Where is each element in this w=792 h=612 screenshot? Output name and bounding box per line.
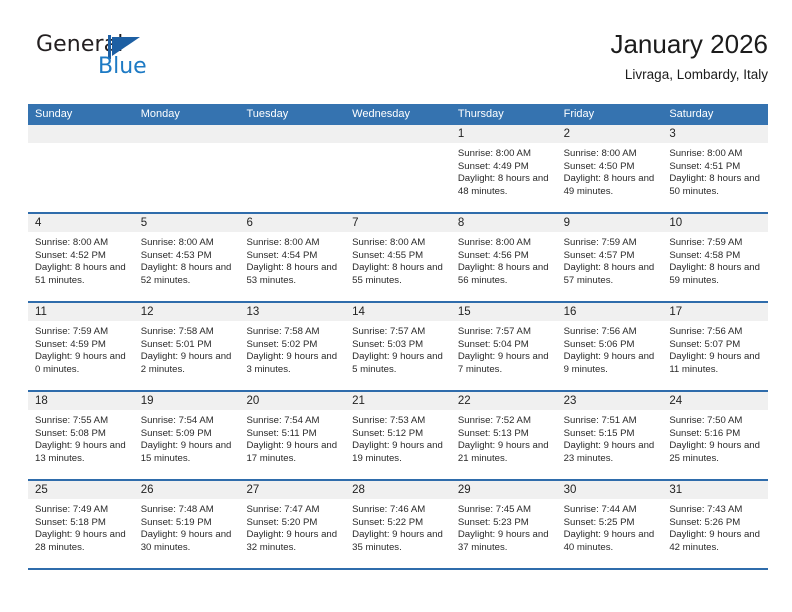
day-number: 22: [451, 392, 557, 410]
day-number-band: 22: [451, 392, 557, 410]
sunset-text: Sunset: 5:11 PM: [246, 428, 339, 441]
day-cell[interactable]: 21Sunrise: 7:53 AMSunset: 5:12 PMDayligh…: [345, 392, 451, 479]
day-number-band: 31: [662, 481, 768, 499]
calendar-week-row: 4Sunrise: 8:00 AMSunset: 4:52 PMDaylight…: [28, 214, 768, 303]
sunset-text: Sunset: 5:09 PM: [141, 428, 234, 441]
day-details: Sunrise: 8:00 AMSunset: 4:52 PMDaylight:…: [28, 232, 134, 287]
sunset-text: Sunset: 5:07 PM: [669, 339, 762, 352]
day-cell[interactable]: 15Sunrise: 7:57 AMSunset: 5:04 PMDayligh…: [451, 303, 557, 390]
sunrise-text: Sunrise: 7:48 AM: [141, 504, 234, 517]
day-number-band: 30: [557, 481, 663, 499]
calendar-page: General Blue January 2026 Livraga, Lomba…: [0, 0, 792, 612]
day-number: 9: [557, 214, 663, 232]
day-number: 28: [345, 481, 451, 499]
sunset-text: Sunset: 5:03 PM: [352, 339, 445, 352]
day-number-band: 23: [557, 392, 663, 410]
weekday-header-tuesday: Tuesday: [239, 104, 345, 125]
day-number-band: 20: [239, 392, 345, 410]
sunset-text: Sunset: 4:56 PM: [458, 250, 551, 263]
sunrise-text: Sunrise: 7:54 AM: [246, 415, 339, 428]
day-number-band: 1: [451, 125, 557, 143]
day-number-band: 16: [557, 303, 663, 321]
calendar-grid: SundayMondayTuesdayWednesdayThursdayFrid…: [28, 104, 768, 570]
daylight-text: Daylight: 8 hours and 49 minutes.: [564, 173, 657, 198]
sunset-text: Sunset: 5:23 PM: [458, 517, 551, 530]
weekday-header-friday: Friday: [557, 104, 663, 125]
day-cell[interactable]: 16Sunrise: 7:56 AMSunset: 5:06 PMDayligh…: [557, 303, 663, 390]
day-cell[interactable]: 6Sunrise: 8:00 AMSunset: 4:54 PMDaylight…: [239, 214, 345, 301]
day-number-band: 19: [134, 392, 240, 410]
day-number-band: 8: [451, 214, 557, 232]
day-details: Sunrise: 7:58 AMSunset: 5:02 PMDaylight:…: [239, 321, 345, 376]
day-details: Sunrise: 7:56 AMSunset: 5:07 PMDaylight:…: [662, 321, 768, 376]
day-cell[interactable]: 28Sunrise: 7:46 AMSunset: 5:22 PMDayligh…: [345, 481, 451, 568]
day-cell[interactable]: 17Sunrise: 7:56 AMSunset: 5:07 PMDayligh…: [662, 303, 768, 390]
day-number: 6: [239, 214, 345, 232]
day-cell[interactable]: 8Sunrise: 8:00 AMSunset: 4:56 PMDaylight…: [451, 214, 557, 301]
day-number: 17: [662, 303, 768, 321]
day-cell[interactable]: 5Sunrise: 8:00 AMSunset: 4:53 PMDaylight…: [134, 214, 240, 301]
daylight-text: Daylight: 9 hours and 15 minutes.: [141, 440, 234, 465]
day-cell[interactable]: 30Sunrise: 7:44 AMSunset: 5:25 PMDayligh…: [557, 481, 663, 568]
daylight-text: Daylight: 9 hours and 30 minutes.: [141, 529, 234, 554]
day-number-band: 3: [662, 125, 768, 143]
sunset-text: Sunset: 5:08 PM: [35, 428, 128, 441]
day-number-band: 24: [662, 392, 768, 410]
day-details: Sunrise: 8:00 AMSunset: 4:53 PMDaylight:…: [134, 232, 240, 287]
day-number-band: 17: [662, 303, 768, 321]
sunrise-text: Sunrise: 7:56 AM: [564, 326, 657, 339]
day-number: 4: [28, 214, 134, 232]
day-number: 18: [28, 392, 134, 410]
sunset-text: Sunset: 5:22 PM: [352, 517, 445, 530]
day-number: 21: [345, 392, 451, 410]
day-details: Sunrise: 7:59 AMSunset: 4:57 PMDaylight:…: [557, 232, 663, 287]
day-details: Sunrise: 7:57 AMSunset: 5:03 PMDaylight:…: [345, 321, 451, 376]
daylight-text: Daylight: 8 hours and 57 minutes.: [564, 262, 657, 287]
day-number: 30: [557, 481, 663, 499]
day-number: 25: [28, 481, 134, 499]
day-details: Sunrise: 7:53 AMSunset: 5:12 PMDaylight:…: [345, 410, 451, 465]
daylight-text: Daylight: 9 hours and 3 minutes.: [246, 351, 339, 376]
day-number-band: 12: [134, 303, 240, 321]
calendar-week-row: 25Sunrise: 7:49 AMSunset: 5:18 PMDayligh…: [28, 481, 768, 570]
day-cell[interactable]: 14Sunrise: 7:57 AMSunset: 5:03 PMDayligh…: [345, 303, 451, 390]
sunset-text: Sunset: 5:16 PM: [669, 428, 762, 441]
sunset-text: Sunset: 4:49 PM: [458, 161, 551, 174]
sunrise-text: Sunrise: 7:58 AM: [246, 326, 339, 339]
daylight-text: Daylight: 8 hours and 55 minutes.: [352, 262, 445, 287]
daylight-text: Daylight: 9 hours and 19 minutes.: [352, 440, 445, 465]
day-number: 23: [557, 392, 663, 410]
sunrise-text: Sunrise: 8:00 AM: [35, 237, 128, 250]
daylight-text: Daylight: 9 hours and 2 minutes.: [141, 351, 234, 376]
sunrise-text: Sunrise: 7:58 AM: [141, 326, 234, 339]
day-cell[interactable]: 7Sunrise: 8:00 AMSunset: 4:55 PMDaylight…: [345, 214, 451, 301]
day-number-band: 4: [28, 214, 134, 232]
daylight-text: Daylight: 8 hours and 51 minutes.: [35, 262, 128, 287]
calendar-week-row: 11Sunrise: 7:59 AMSunset: 4:59 PMDayligh…: [28, 303, 768, 392]
sunset-text: Sunset: 4:51 PM: [669, 161, 762, 174]
day-cell[interactable]: 12Sunrise: 7:58 AMSunset: 5:01 PMDayligh…: [134, 303, 240, 390]
day-cell-empty: [134, 125, 240, 212]
day-number-band: [28, 125, 134, 143]
sunrise-text: Sunrise: 7:52 AM: [458, 415, 551, 428]
day-number-band: 18: [28, 392, 134, 410]
day-details: Sunrise: 7:59 AMSunset: 4:59 PMDaylight:…: [28, 321, 134, 376]
day-cell[interactable]: 24Sunrise: 7:50 AMSunset: 5:16 PMDayligh…: [662, 392, 768, 479]
day-number: 16: [557, 303, 663, 321]
day-number: 3: [662, 125, 768, 143]
day-number: 19: [134, 392, 240, 410]
sunrise-text: Sunrise: 7:53 AM: [352, 415, 445, 428]
daylight-text: Daylight: 9 hours and 32 minutes.: [246, 529, 339, 554]
day-details: Sunrise: 7:51 AMSunset: 5:15 PMDaylight:…: [557, 410, 663, 465]
day-cell[interactable]: 23Sunrise: 7:51 AMSunset: 5:15 PMDayligh…: [557, 392, 663, 479]
daylight-text: Daylight: 9 hours and 40 minutes.: [564, 529, 657, 554]
day-number-band: 6: [239, 214, 345, 232]
daylight-text: Daylight: 9 hours and 5 minutes.: [352, 351, 445, 376]
daylight-text: Daylight: 8 hours and 53 minutes.: [246, 262, 339, 287]
sunset-text: Sunset: 4:52 PM: [35, 250, 128, 263]
sunset-text: Sunset: 4:53 PM: [141, 250, 234, 263]
sunrise-text: Sunrise: 8:00 AM: [669, 148, 762, 161]
day-number-band: 9: [557, 214, 663, 232]
page-subtitle: Livraga, Lombardy, Italy: [610, 66, 768, 84]
sunset-text: Sunset: 4:50 PM: [564, 161, 657, 174]
sunset-text: Sunset: 5:06 PM: [564, 339, 657, 352]
sunrise-text: Sunrise: 7:44 AM: [564, 504, 657, 517]
sunrise-text: Sunrise: 7:43 AM: [669, 504, 762, 517]
day-number: 14: [345, 303, 451, 321]
sunset-text: Sunset: 5:12 PM: [352, 428, 445, 441]
sunrise-text: Sunrise: 7:45 AM: [458, 504, 551, 517]
day-details: Sunrise: 7:58 AMSunset: 5:01 PMDaylight:…: [134, 321, 240, 376]
day-details: Sunrise: 8:00 AMSunset: 4:51 PMDaylight:…: [662, 143, 768, 198]
day-number: 26: [134, 481, 240, 499]
weekday-header-sunday: Sunday: [28, 104, 134, 125]
daylight-text: Daylight: 9 hours and 25 minutes.: [669, 440, 762, 465]
daylight-text: Daylight: 9 hours and 11 minutes.: [669, 351, 762, 376]
daylight-text: Daylight: 8 hours and 59 minutes.: [669, 262, 762, 287]
sunrise-text: Sunrise: 7:55 AM: [35, 415, 128, 428]
sunrise-text: Sunrise: 8:00 AM: [564, 148, 657, 161]
day-number-band: 15: [451, 303, 557, 321]
day-number-band: 26: [134, 481, 240, 499]
sunrise-text: Sunrise: 7:57 AM: [458, 326, 551, 339]
day-cell[interactable]: 22Sunrise: 7:52 AMSunset: 5:13 PMDayligh…: [451, 392, 557, 479]
sunset-text: Sunset: 5:01 PM: [141, 339, 234, 352]
day-number-band: 29: [451, 481, 557, 499]
sunrise-text: Sunrise: 7:54 AM: [141, 415, 234, 428]
sunrise-text: Sunrise: 7:47 AM: [246, 504, 339, 517]
sunset-text: Sunset: 4:58 PM: [669, 250, 762, 263]
day-cell[interactable]: 2Sunrise: 8:00 AMSunset: 4:50 PMDaylight…: [557, 125, 663, 212]
day-details: Sunrise: 7:52 AMSunset: 5:13 PMDaylight:…: [451, 410, 557, 465]
sunrise-text: Sunrise: 7:59 AM: [564, 237, 657, 250]
day-details: Sunrise: 7:54 AMSunset: 5:11 PMDaylight:…: [239, 410, 345, 465]
day-number-band: 7: [345, 214, 451, 232]
sunrise-text: Sunrise: 8:00 AM: [246, 237, 339, 250]
day-number: 7: [345, 214, 451, 232]
day-details: Sunrise: 8:00 AMSunset: 4:54 PMDaylight:…: [239, 232, 345, 287]
daylight-text: Daylight: 9 hours and 13 minutes.: [35, 440, 128, 465]
day-number: 15: [451, 303, 557, 321]
day-number: 20: [239, 392, 345, 410]
day-number: 24: [662, 392, 768, 410]
day-cell[interactable]: 27Sunrise: 7:47 AMSunset: 5:20 PMDayligh…: [239, 481, 345, 568]
day-cell[interactable]: 19Sunrise: 7:54 AMSunset: 5:09 PMDayligh…: [134, 392, 240, 479]
day-cell[interactable]: 11Sunrise: 7:59 AMSunset: 4:59 PMDayligh…: [28, 303, 134, 390]
day-number: 8: [451, 214, 557, 232]
daylight-text: Daylight: 9 hours and 28 minutes.: [35, 529, 128, 554]
sunrise-text: Sunrise: 7:46 AM: [352, 504, 445, 517]
day-cell[interactable]: 13Sunrise: 7:58 AMSunset: 5:02 PMDayligh…: [239, 303, 345, 390]
day-number-band: [134, 125, 240, 143]
day-number-band: 11: [28, 303, 134, 321]
daylight-text: Daylight: 9 hours and 42 minutes.: [669, 529, 762, 554]
day-number: 11: [28, 303, 134, 321]
daylight-text: Daylight: 9 hours and 23 minutes.: [564, 440, 657, 465]
sunset-text: Sunset: 4:54 PM: [246, 250, 339, 263]
day-number-band: 28: [345, 481, 451, 499]
day-cell[interactable]: 3Sunrise: 8:00 AMSunset: 4:51 PMDaylight…: [662, 125, 768, 212]
day-cell[interactable]: 31Sunrise: 7:43 AMSunset: 5:26 PMDayligh…: [662, 481, 768, 568]
day-number: 2: [557, 125, 663, 143]
day-cell[interactable]: 9Sunrise: 7:59 AMSunset: 4:57 PMDaylight…: [557, 214, 663, 301]
sunset-text: Sunset: 5:15 PM: [564, 428, 657, 441]
daylight-text: Daylight: 8 hours and 48 minutes.: [458, 173, 551, 198]
day-cell[interactable]: 18Sunrise: 7:55 AMSunset: 5:08 PMDayligh…: [28, 392, 134, 479]
day-details: Sunrise: 7:43 AMSunset: 5:26 PMDaylight:…: [662, 499, 768, 554]
sunrise-text: Sunrise: 7:57 AM: [352, 326, 445, 339]
sunset-text: Sunset: 4:57 PM: [564, 250, 657, 263]
weekday-header-row: SundayMondayTuesdayWednesdayThursdayFrid…: [28, 104, 768, 125]
daylight-text: Daylight: 9 hours and 17 minutes.: [246, 440, 339, 465]
day-number: 5: [134, 214, 240, 232]
day-details: Sunrise: 8:00 AMSunset: 4:50 PMDaylight:…: [557, 143, 663, 198]
sunset-text: Sunset: 5:20 PM: [246, 517, 339, 530]
weekday-header-thursday: Thursday: [451, 104, 557, 125]
daylight-text: Daylight: 8 hours and 56 minutes.: [458, 262, 551, 287]
sunset-text: Sunset: 4:55 PM: [352, 250, 445, 263]
sunrise-text: Sunrise: 7:51 AM: [564, 415, 657, 428]
weekday-header-wednesday: Wednesday: [345, 104, 451, 125]
title-block: January 2026 Livraga, Lombardy, Italy: [610, 28, 768, 84]
day-cell[interactable]: 1Sunrise: 8:00 AMSunset: 4:49 PMDaylight…: [451, 125, 557, 212]
daylight-text: Daylight: 9 hours and 7 minutes.: [458, 351, 551, 376]
brand-logo[interactable]: General Blue: [36, 32, 236, 92]
day-number-band: 5: [134, 214, 240, 232]
daylight-text: Daylight: 9 hours and 37 minutes.: [458, 529, 551, 554]
sunset-text: Sunset: 5:25 PM: [564, 517, 657, 530]
day-cell-empty: [239, 125, 345, 212]
day-number-band: 10: [662, 214, 768, 232]
day-cell[interactable]: 10Sunrise: 7:59 AMSunset: 4:58 PMDayligh…: [662, 214, 768, 301]
sunrise-text: Sunrise: 8:00 AM: [141, 237, 234, 250]
day-number: 27: [239, 481, 345, 499]
sunset-text: Sunset: 5:02 PM: [246, 339, 339, 352]
sunset-text: Sunset: 5:18 PM: [35, 517, 128, 530]
day-details: Sunrise: 7:59 AMSunset: 4:58 PMDaylight:…: [662, 232, 768, 287]
day-details: Sunrise: 7:48 AMSunset: 5:19 PMDaylight:…: [134, 499, 240, 554]
daylight-text: Daylight: 9 hours and 0 minutes.: [35, 351, 128, 376]
sunset-text: Sunset: 5:13 PM: [458, 428, 551, 441]
daylight-text: Daylight: 9 hours and 9 minutes.: [564, 351, 657, 376]
daylight-text: Daylight: 9 hours and 35 minutes.: [352, 529, 445, 554]
day-details: Sunrise: 7:54 AMSunset: 5:09 PMDaylight:…: [134, 410, 240, 465]
day-details: Sunrise: 7:47 AMSunset: 5:20 PMDaylight:…: [239, 499, 345, 554]
sunset-text: Sunset: 5:04 PM: [458, 339, 551, 352]
sunrise-text: Sunrise: 7:50 AM: [669, 415, 762, 428]
day-number-band: [345, 125, 451, 143]
day-number-band: 27: [239, 481, 345, 499]
sunset-text: Sunset: 5:26 PM: [669, 517, 762, 530]
day-number-band: 21: [345, 392, 451, 410]
day-number: 13: [239, 303, 345, 321]
day-number: 12: [134, 303, 240, 321]
day-number: 31: [662, 481, 768, 499]
sunrise-text: Sunrise: 7:59 AM: [669, 237, 762, 250]
page-title: January 2026: [610, 28, 768, 60]
day-details: Sunrise: 8:00 AMSunset: 4:55 PMDaylight:…: [345, 232, 451, 287]
day-cell[interactable]: 29Sunrise: 7:45 AMSunset: 5:23 PMDayligh…: [451, 481, 557, 568]
sunset-text: Sunset: 4:59 PM: [35, 339, 128, 352]
day-cell[interactable]: 4Sunrise: 8:00 AMSunset: 4:52 PMDaylight…: [28, 214, 134, 301]
day-number: 10: [662, 214, 768, 232]
day-details: Sunrise: 7:46 AMSunset: 5:22 PMDaylight:…: [345, 499, 451, 554]
sunrise-text: Sunrise: 8:00 AM: [352, 237, 445, 250]
day-number-band: 13: [239, 303, 345, 321]
day-details: Sunrise: 7:56 AMSunset: 5:06 PMDaylight:…: [557, 321, 663, 376]
day-details: Sunrise: 8:00 AMSunset: 4:56 PMDaylight:…: [451, 232, 557, 287]
calendar-week-row: 18Sunrise: 7:55 AMSunset: 5:08 PMDayligh…: [28, 392, 768, 481]
sunrise-text: Sunrise: 8:00 AM: [458, 237, 551, 250]
brand-name-bottom: Blue: [98, 54, 147, 79]
day-number-band: 25: [28, 481, 134, 499]
daylight-text: Daylight: 8 hours and 52 minutes.: [141, 262, 234, 287]
daylight-text: Daylight: 8 hours and 50 minutes.: [669, 173, 762, 198]
day-cell[interactable]: 20Sunrise: 7:54 AMSunset: 5:11 PMDayligh…: [239, 392, 345, 479]
sunrise-text: Sunrise: 8:00 AM: [458, 148, 551, 161]
day-number: 1: [451, 125, 557, 143]
page-header: General Blue January 2026 Livraga, Lomba…: [28, 28, 768, 100]
day-cell-empty: [345, 125, 451, 212]
day-details: Sunrise: 7:44 AMSunset: 5:25 PMDaylight:…: [557, 499, 663, 554]
day-details: Sunrise: 8:00 AMSunset: 4:49 PMDaylight:…: [451, 143, 557, 198]
sunrise-text: Sunrise: 7:59 AM: [35, 326, 128, 339]
day-number: 29: [451, 481, 557, 499]
weekday-header-saturday: Saturday: [662, 104, 768, 125]
calendar-weeks: 1Sunrise: 8:00 AMSunset: 4:49 PMDaylight…: [28, 125, 768, 570]
sunset-text: Sunset: 5:19 PM: [141, 517, 234, 530]
day-cell-empty: [28, 125, 134, 212]
weekday-header-monday: Monday: [134, 104, 240, 125]
day-details: Sunrise: 7:57 AMSunset: 5:04 PMDaylight:…: [451, 321, 557, 376]
day-details: Sunrise: 7:55 AMSunset: 5:08 PMDaylight:…: [28, 410, 134, 465]
calendar-week-row: 1Sunrise: 8:00 AMSunset: 4:49 PMDaylight…: [28, 125, 768, 214]
day-details: Sunrise: 7:50 AMSunset: 5:16 PMDaylight:…: [662, 410, 768, 465]
day-number-band: [239, 125, 345, 143]
day-number-band: 14: [345, 303, 451, 321]
daylight-text: Daylight: 9 hours and 21 minutes.: [458, 440, 551, 465]
day-number-band: 2: [557, 125, 663, 143]
sunrise-text: Sunrise: 7:56 AM: [669, 326, 762, 339]
day-cell[interactable]: 25Sunrise: 7:49 AMSunset: 5:18 PMDayligh…: [28, 481, 134, 568]
day-details: Sunrise: 7:45 AMSunset: 5:23 PMDaylight:…: [451, 499, 557, 554]
sunrise-text: Sunrise: 7:49 AM: [35, 504, 128, 517]
day-cell[interactable]: 26Sunrise: 7:48 AMSunset: 5:19 PMDayligh…: [134, 481, 240, 568]
day-details: Sunrise: 7:49 AMSunset: 5:18 PMDaylight:…: [28, 499, 134, 554]
